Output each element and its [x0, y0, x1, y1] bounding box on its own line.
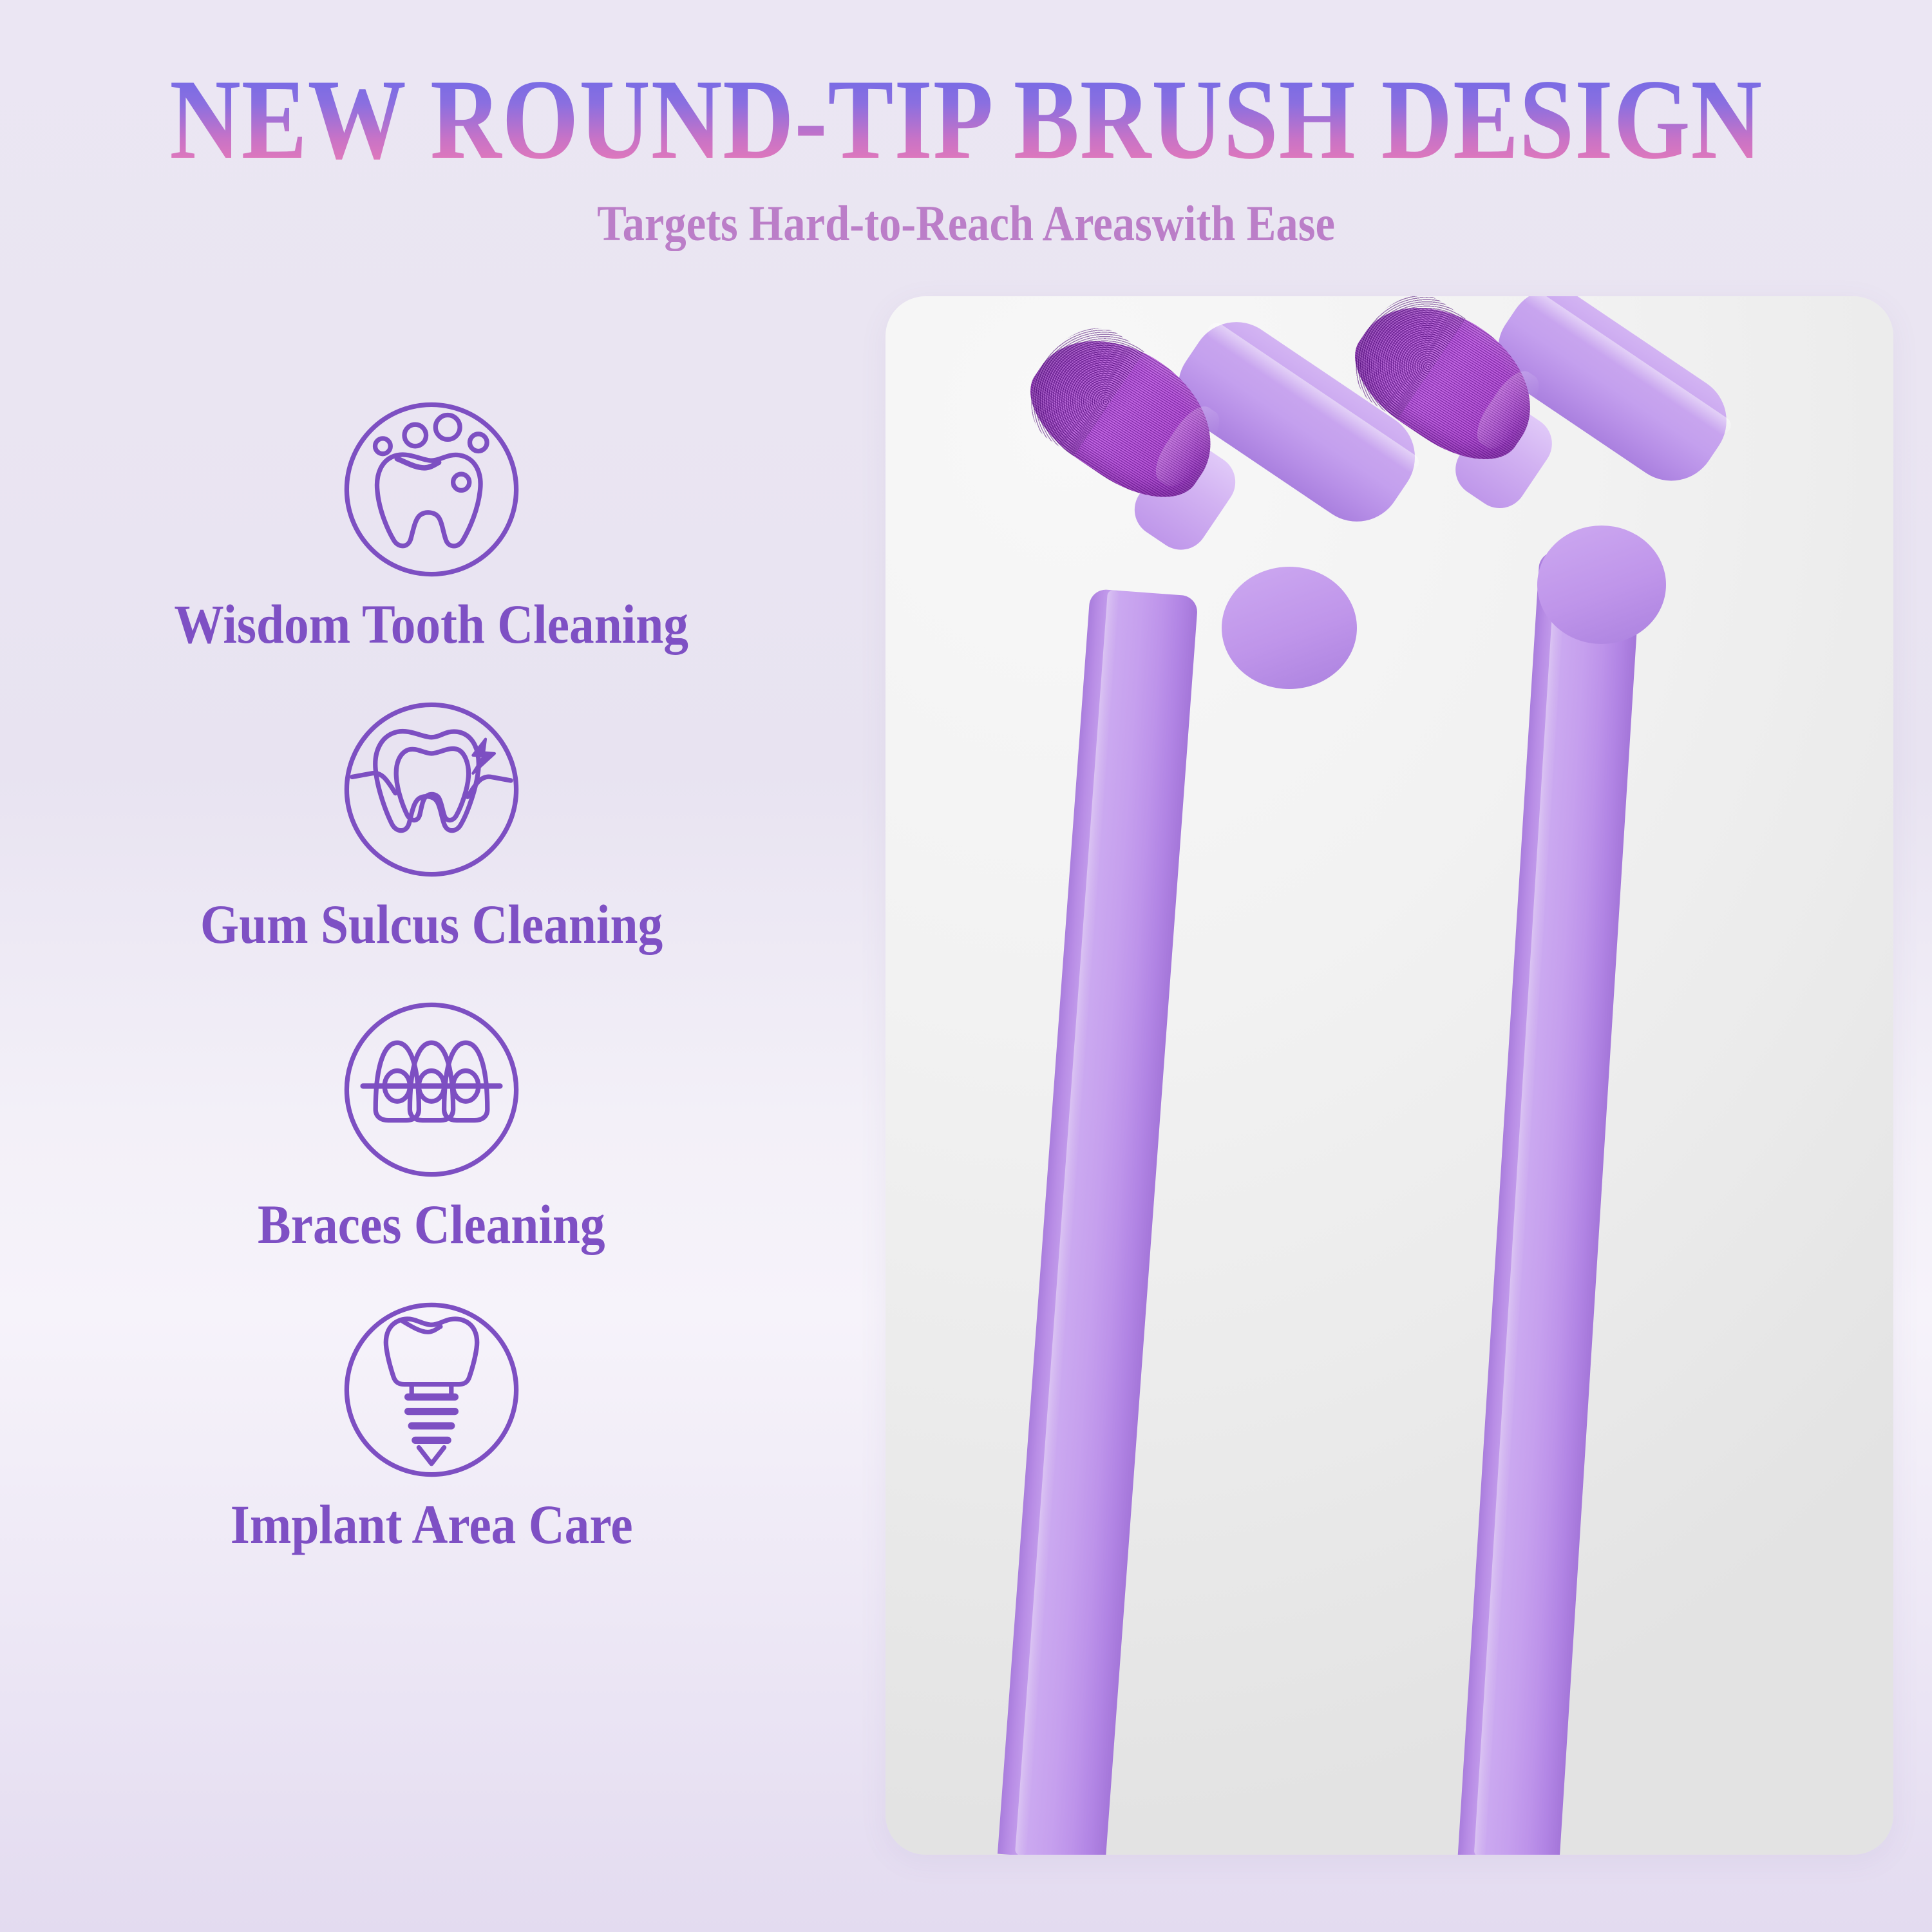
- feature-label: Wisdom Tooth Cleaning: [175, 596, 689, 652]
- tooth-gumline-lightning-icon: [341, 699, 522, 880]
- page-subtitle: Targets Hard-to-Reach Areaswith Ease: [597, 198, 1335, 249]
- feature-label: Implant Area Care: [231, 1497, 633, 1552]
- feature-item-braces: Braces Cleaning: [0, 999, 863, 1252]
- brush-neck-joint: [1537, 526, 1666, 644]
- feature-item-wisdom-tooth: Wisdom Tooth Cleaning: [0, 399, 863, 652]
- teeth-with-braces-icon: [341, 999, 522, 1180]
- feature-list: Wisdom Tooth Cleaning Gum Sulcus Cleanin…: [0, 399, 863, 1552]
- header: NEW ROUND-TIP BRUSH DESIGN Targets Hard-…: [0, 0, 1932, 270]
- feature-item-gum-sulcus: Gum Sulcus Cleaning: [0, 699, 863, 952]
- tooth-with-bubbles-icon: [341, 399, 522, 580]
- dental-implant-icon: [341, 1300, 522, 1480]
- feature-item-implant: Implant Area Care: [0, 1300, 863, 1552]
- feature-label: Braces Cleaning: [258, 1197, 605, 1252]
- product-photo-card: [885, 296, 1893, 1855]
- brush-handle: [998, 589, 1198, 1855]
- brush-neck-joint: [1222, 567, 1357, 689]
- page-title: NEW ROUND-TIP BRUSH DESIGN: [169, 62, 1763, 176]
- brush-handle: [1458, 551, 1642, 1855]
- feature-label: Gum Sulcus Cleaning: [200, 896, 663, 952]
